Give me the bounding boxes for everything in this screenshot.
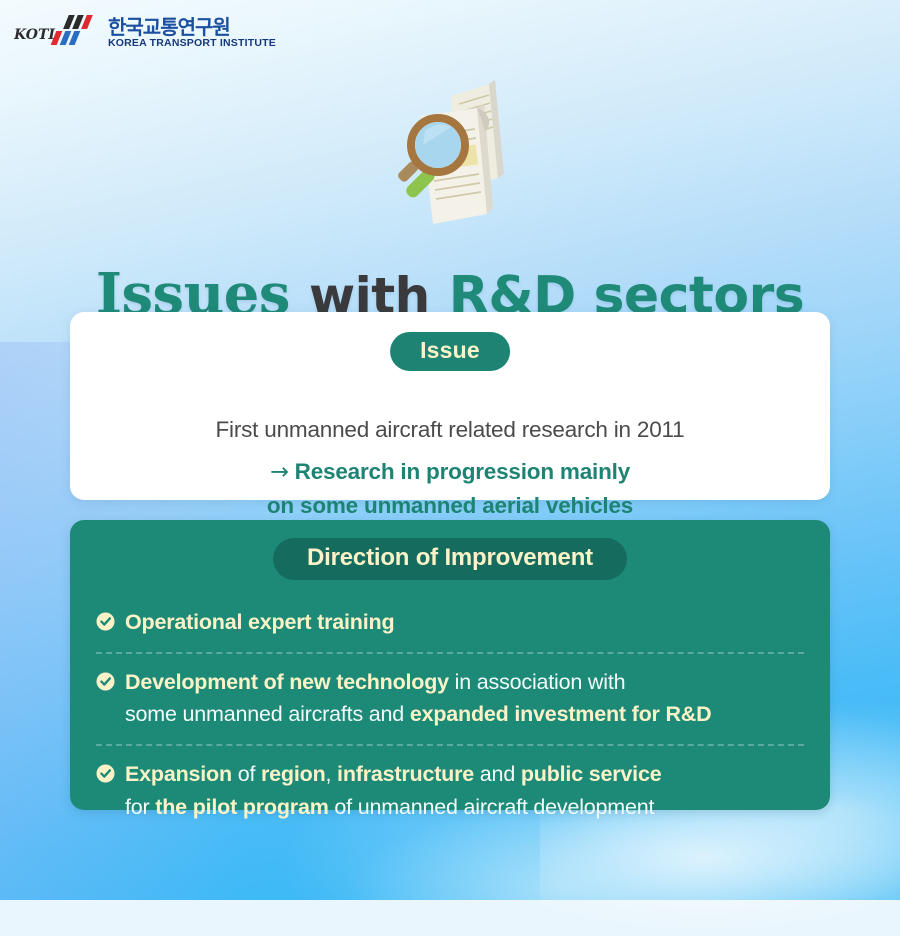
koti-logo: KOTI 한국교통연구원 KOREA TRANSPORT INSTITUTE <box>14 12 276 53</box>
right-arrow-icon: → <box>270 459 289 485</box>
issue-conclusion: →Research in progression mainly on some … <box>70 455 830 524</box>
check-circle-icon <box>96 672 115 696</box>
improvement-item-text: Expansion of region, infrastructure and … <box>125 758 661 823</box>
improvement-list: Operational expert trainingDevelopment o… <box>96 594 804 836</box>
issue-card: Issue First unmanned aircraft related re… <box>70 312 830 500</box>
check-circle-icon <box>96 764 115 788</box>
issue-conclusion-line-2: on some unmanned aerial vehicles <box>267 493 633 518</box>
improvement-list-item: Development of new technology in associa… <box>96 652 804 744</box>
issue-conclusion-line-1: Research in progression mainly <box>295 459 630 484</box>
infographic-page: KOTI 한국교통연구원 KOREA TRANSPORT INSTITUTE <box>0 0 900 900</box>
improvement-item-text: Development of new technology in associa… <box>125 666 711 731</box>
improvement-panel: Direction of Improvement Operational exp… <box>70 520 830 810</box>
magnifying-glass-over-documents-illustration <box>385 78 525 228</box>
improvement-item-text: Operational expert training <box>125 606 394 639</box>
issue-badge: Issue <box>390 332 510 371</box>
check-circle-icon <box>96 612 115 636</box>
koti-wordmark-english: KOREA TRANSPORT INSTITUTE <box>108 38 276 49</box>
improvement-badge: Direction of Improvement <box>273 538 627 580</box>
improvement-list-item: Operational expert training <box>96 594 804 652</box>
svg-text:KOTI: KOTI <box>14 27 55 43</box>
koti-wordmark-korean: 한국교통연구원 <box>108 17 276 37</box>
issue-statement: First unmanned aircraft related research… <box>70 417 830 443</box>
improvement-list-item: Expansion of region, infrastructure and … <box>96 744 804 836</box>
koti-wordmark: 한국교통연구원 KOREA TRANSPORT INSTITUTE <box>108 17 276 49</box>
koti-logo-mark: KOTI <box>14 12 100 53</box>
